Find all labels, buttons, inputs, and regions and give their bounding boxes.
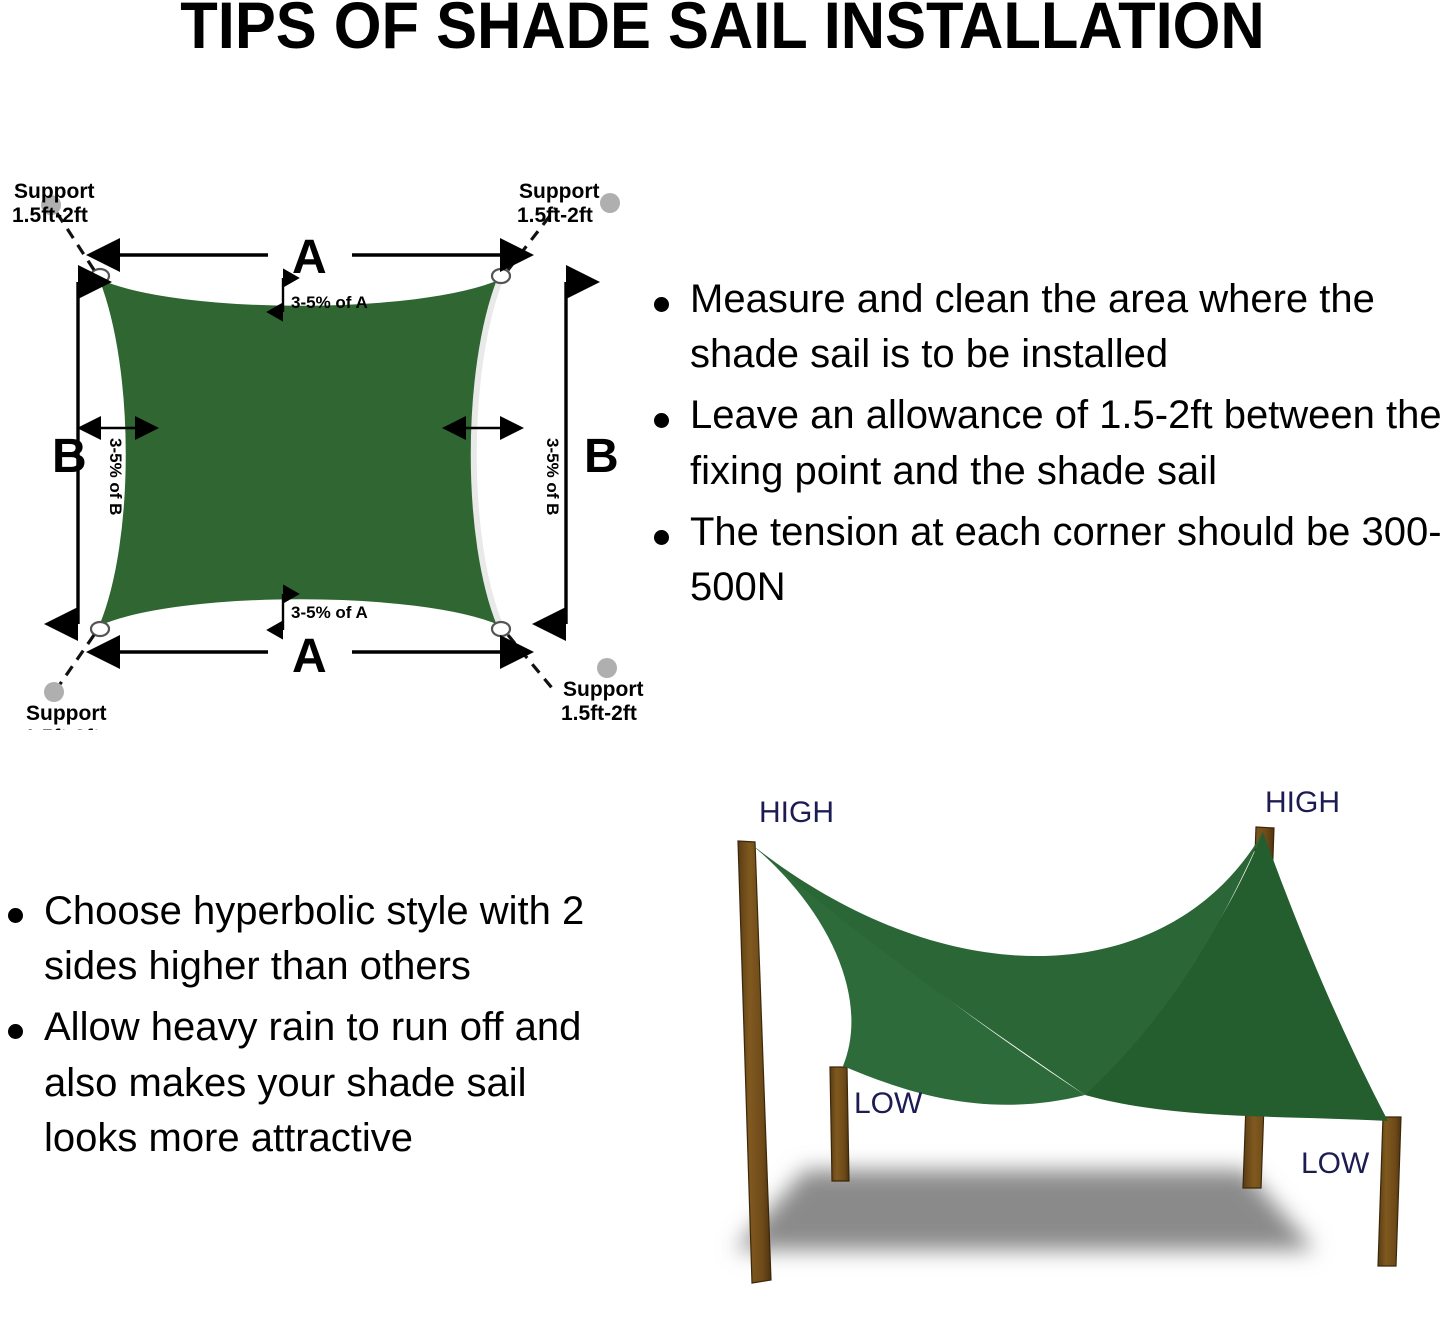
sag-label-bottom: 3-5% of A [291, 603, 368, 622]
post-front-left [830, 1067, 849, 1181]
corner-ring-bottom-left [91, 622, 109, 636]
tip-text: Leave an allowance of 1.5-2ft between th… [690, 393, 1442, 492]
tip-text: Choose hyperbolic style with 2 sides hig… [44, 889, 584, 988]
dimension-label-top-a: A [292, 231, 327, 284]
installation-tips-list-bottom: Choose hyperbolic style with 2 sides hig… [2, 884, 622, 1172]
installation-tips-list-top: Measure and clean the area where the sha… [648, 272, 1445, 621]
list-item: Allow heavy rain to run off and also mak… [2, 1000, 622, 1166]
corner-ring-bottom-right [492, 622, 510, 636]
support-dot-bottom-right [597, 658, 617, 678]
support-leader-bottom-right [508, 635, 552, 688]
sag-label-left: 3-5% of B [106, 438, 125, 515]
support-label-bottom-right-line2: 1.5ft-2ft [561, 702, 637, 725]
support-label-bottom-left-line1: Support [26, 702, 106, 725]
bullet-dot-icon [654, 413, 669, 428]
support-label-top-right-line2: 1.5ft-2ft [517, 204, 593, 227]
ground-shadow [735, 1170, 1315, 1250]
tip-text: Measure and clean the area where the sha… [690, 277, 1375, 376]
corner-ring-top-right [492, 269, 510, 283]
list-item: Measure and clean the area where the sha… [648, 272, 1445, 382]
sag-label-top: 3-5% of A [291, 293, 368, 312]
dimension-label-bottom-a: A [292, 630, 327, 683]
bullet-dot-icon [8, 1024, 23, 1039]
dimension-label-left-b: B [52, 430, 87, 483]
bullet-dot-icon [8, 908, 23, 923]
support-label-bottom-right-line1: Support [563, 678, 643, 701]
label-high-left: HIGH [759, 796, 834, 829]
support-label-top-left-line2: 1.5ft-2ft [12, 204, 88, 227]
tip-text: Allow heavy rain to run off and also mak… [44, 1005, 581, 1159]
support-label-top-left-line1: Support [14, 180, 94, 203]
bullet-dot-icon [654, 297, 669, 312]
list-item: Leave an allowance of 1.5-2ft between th… [648, 388, 1445, 498]
list-item: The tension at each corner should be 300… [648, 505, 1445, 615]
dimension-label-right-b: B [584, 430, 619, 483]
label-low-front-left: LOW [854, 1087, 923, 1120]
hyperbolic-sail-diagram: HIGH HIGH LOW LOW [655, 770, 1445, 1319]
page-title: TIPS OF SHADE SAIL INSTALLATION [51, 0, 1395, 58]
post-front-right [1378, 1117, 1401, 1266]
sag-label-right: 3-5% of B [543, 438, 562, 515]
list-item: Choose hyperbolic style with 2 sides hig… [2, 884, 622, 994]
post-back-left [738, 841, 771, 1283]
sail-body [100, 280, 500, 625]
label-low-front-right: LOW [1301, 1147, 1370, 1180]
corner-ring-top-left [91, 269, 109, 283]
bullet-dot-icon [654, 530, 669, 545]
support-leader-bottom-left [58, 635, 94, 687]
support-label-top-right-line1: Support [519, 180, 599, 203]
tip-text: The tension at each corner should be 300… [690, 510, 1442, 609]
support-label-bottom-left-line2: 1.5ft-2ft [24, 726, 100, 730]
support-dot-bottom-left [44, 682, 64, 702]
rectangular-sail-diagram: Support 1.5ft-2ft Support 1.5ft-2ft Supp… [0, 160, 660, 730]
support-dot-top-right [600, 193, 620, 213]
label-high-right: HIGH [1265, 786, 1340, 819]
